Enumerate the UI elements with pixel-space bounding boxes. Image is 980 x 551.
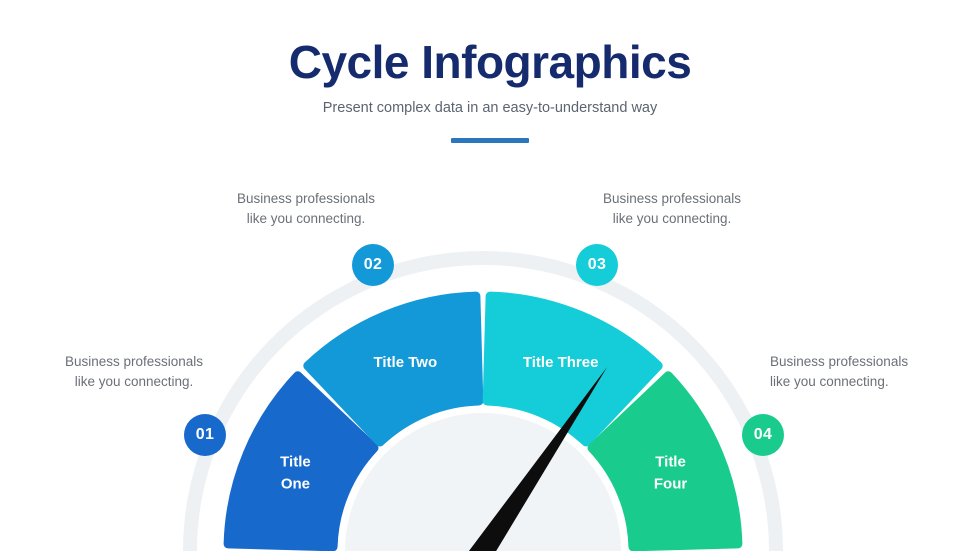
header: Cycle Infographics Present complex data … [0, 0, 980, 143]
accent-divider [451, 138, 529, 143]
step-description-02: Business professionals like you connecti… [206, 189, 406, 230]
gauge-inner-disc [345, 413, 621, 551]
segment-label-04: Title Four [654, 452, 687, 496]
step-badge-02[interactable]: 02 [352, 244, 394, 286]
infographic-canvas: Cycle Infographics Present complex data … [0, 0, 980, 551]
gauge-needle [453, 367, 607, 551]
segment-label-01: Title One [280, 452, 311, 496]
segment-label-02: Title Two [374, 353, 438, 375]
page-title: Cycle Infographics [0, 38, 980, 88]
gauge-outer-ring [183, 251, 783, 551]
segment-label-03: Title Three [523, 353, 599, 375]
step-badge-01[interactable]: 01 [184, 414, 226, 456]
step-description-01: Business professionals like you connecti… [34, 352, 234, 393]
gauge-segments [228, 296, 738, 547]
step-description-04: Business professionals like you connecti… [770, 352, 970, 393]
step-description-03: Business professionals like you connecti… [572, 189, 772, 230]
step-badge-03[interactable]: 03 [576, 244, 618, 286]
page-subtitle: Present complex data in an easy-to-under… [0, 100, 980, 116]
step-badge-04[interactable]: 04 [742, 414, 784, 456]
